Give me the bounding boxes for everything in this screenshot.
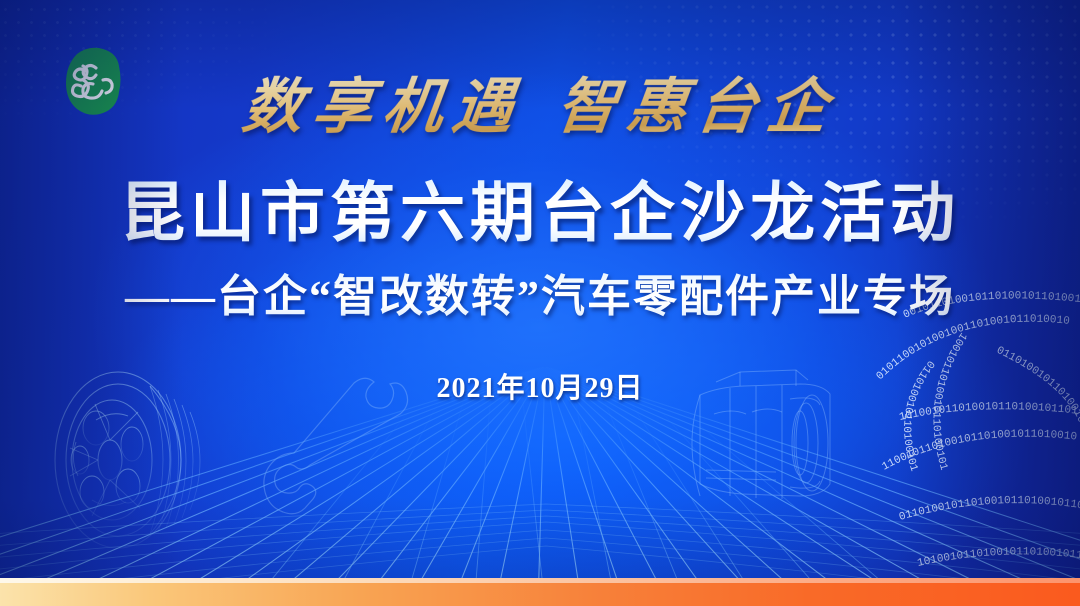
gold-headline: 数享机遇智惠台企 bbox=[0, 72, 1080, 142]
event-date: 2021年10月29日 bbox=[0, 372, 1080, 406]
gold-headline-part2: 智惠台企 bbox=[553, 74, 841, 140]
page-subtitle: ——台企“智改数转”汽车零配件产业专场 bbox=[0, 270, 1080, 324]
orange-gradient-strip bbox=[0, 578, 1080, 606]
event-banner: 01011001010010011010010110100101101001 1… bbox=[0, 0, 1080, 606]
gold-headline-part1: 数享机遇 bbox=[239, 74, 527, 140]
banner-text-content: 数享机遇智惠台企 昆山市第六期台企沙龙活动 ——台企“智改数转”汽车零配件产业专… bbox=[0, 0, 1080, 606]
page-title: 昆山市第六期台企沙龙活动 bbox=[0, 176, 1080, 252]
